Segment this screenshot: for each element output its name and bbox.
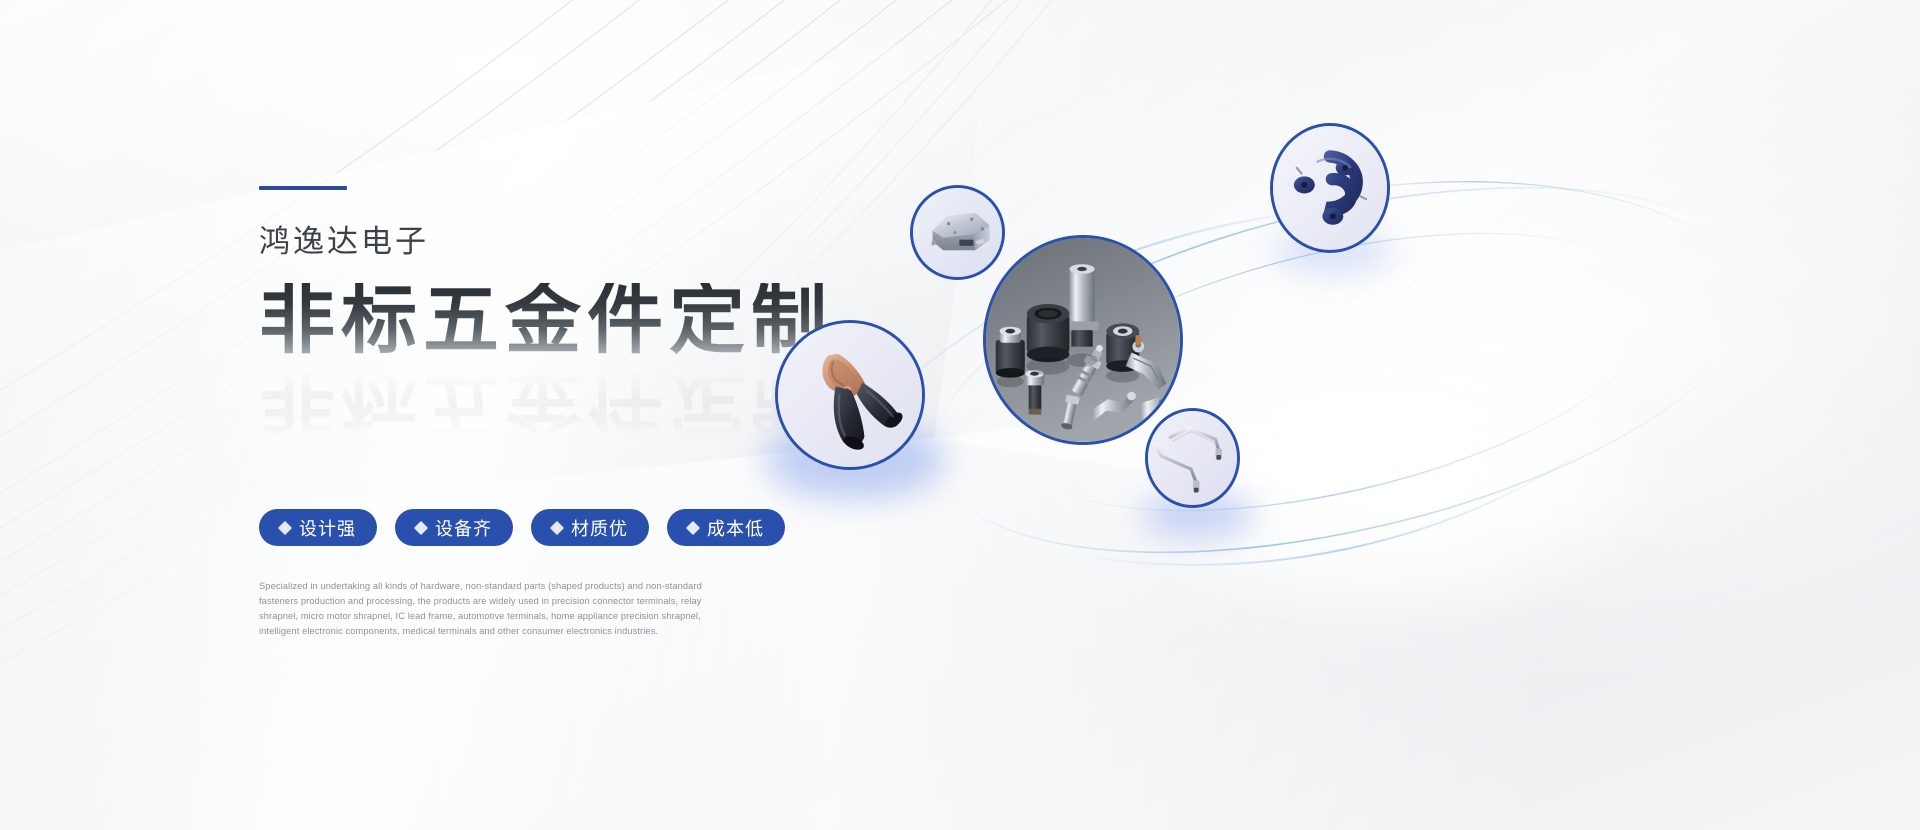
feature-pill-list: 设计强 设备齐 材质优 成本低: [259, 509, 899, 546]
diamond-icon: [414, 520, 428, 534]
diamond-icon: [686, 520, 700, 534]
accent-bar: [259, 186, 347, 190]
diamond-icon: [550, 520, 564, 534]
brand-name: 鸿逸达电子: [259, 226, 899, 257]
feature-pill-label: 设备齐: [435, 515, 492, 541]
feature-pill-cost[interactable]: 成本低: [667, 509, 785, 546]
product-node-copper-battery-clamp[interactable]: [775, 320, 925, 470]
feature-pill-design[interactable]: 设计强: [259, 509, 377, 546]
feature-pill-label: 材质优: [571, 515, 628, 541]
feature-pill-label: 设计强: [299, 515, 356, 541]
diamond-icon: [278, 520, 292, 534]
product-node-blue-retaining-ring[interactable]: [1270, 123, 1390, 253]
headline-reflection: 非标五金件定制: [259, 367, 833, 443]
hero-banner: 鸿逸达电子 非标五金件定制 非标五金件定制 设计强 设备齐 材质优 成本低: [0, 0, 1920, 830]
feature-pill-material[interactable]: 材质优: [531, 509, 649, 546]
company-description: Specialized in undertaking all kinds of …: [259, 579, 719, 639]
product-node-bent-metal-pins[interactable]: [1145, 408, 1240, 508]
product-visual: [905, 120, 1920, 700]
feature-pill-equipment[interactable]: 设备齐: [395, 509, 513, 546]
feature-pill-label: 成本低: [707, 515, 764, 541]
